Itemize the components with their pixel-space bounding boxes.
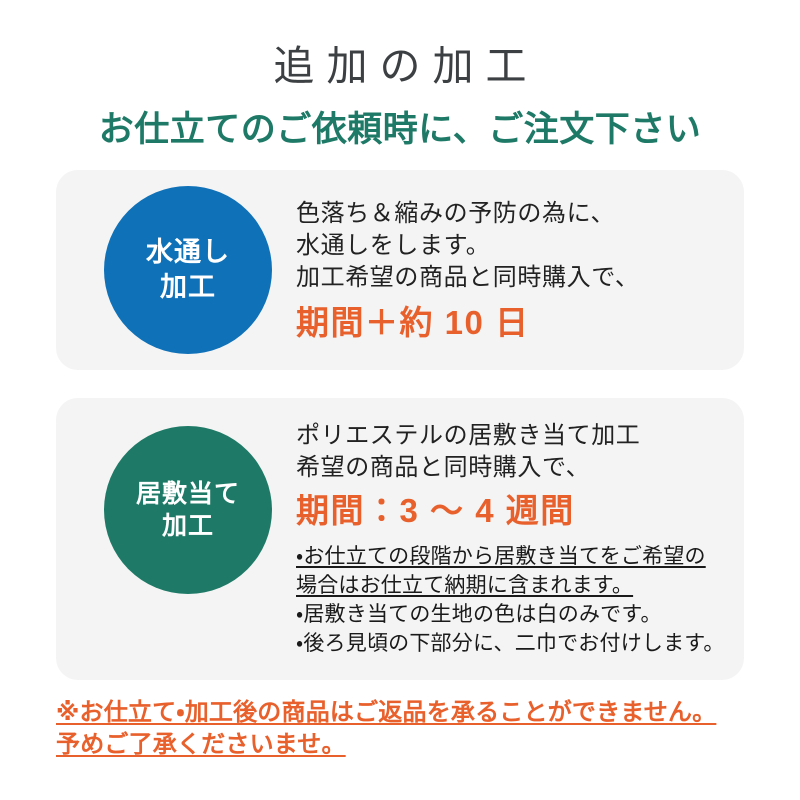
badge-ishikiate-line2: 加工 bbox=[162, 510, 214, 542]
ishikiate-text-line-1: ポリエステルの居敷き当て加工 bbox=[296, 420, 730, 452]
mizutoshi-text-line-2: 水通しをします。 bbox=[296, 230, 730, 262]
ishikiate-duration-highlight: 期間：3 〜 4 週間 bbox=[296, 489, 730, 533]
card-mizutoshi-body: 色落ち＆縮みの予防の為に、 水通しをします。 加工希望の商品と同時購入で、 期間… bbox=[296, 198, 730, 345]
ishikiate-note-1a-text: ・お仕立ての段階から居敷き当てをご希望の bbox=[296, 545, 706, 568]
card-ishikiate-body: ポリエステルの居敷き当て加工 希望の商品と同時購入で、 期間：3 〜 4 週間 … bbox=[296, 420, 730, 658]
badge-ishikiate: 居敷当て 加工 bbox=[104, 426, 272, 594]
card-ishikiate: 居敷当て 加工 ポリエステルの居敷き当て加工 希望の商品と同時購入で、 期間：3… bbox=[56, 398, 744, 680]
ishikiate-note-1b-text: 場合はお仕立て納期に含まれます。 bbox=[296, 574, 633, 597]
card-mizutoshi: 水通し 加工 色落ち＆縮みの予防の為に、 水通しをします。 加工希望の商品と同時… bbox=[56, 170, 744, 370]
badge-mizutoshi-line2: 加工 bbox=[160, 270, 216, 305]
footer-line-1-text: ※お仕立て・加工後の商品はご返品を承ることができません。 bbox=[56, 699, 716, 726]
badge-mizutoshi-line1: 水通し bbox=[146, 235, 230, 270]
infographic-page: 追加の加工 お仕立てのご依頼時に、ご注文下さい 水通し 加工 色落ち＆縮みの予防… bbox=[0, 0, 800, 800]
mizutoshi-text-line-3: 加工希望の商品と同時購入で、 bbox=[296, 262, 730, 294]
footer-line-2: 予めご了承くださいませ。 bbox=[56, 729, 756, 761]
page-subtitle: お仕立てのご依頼時に、ご注文下さい bbox=[0, 87, 800, 147]
ishikiate-text-line-2: 希望の商品と同時購入で、 bbox=[296, 452, 730, 484]
page-title: 追加の加工 bbox=[0, 0, 800, 87]
footer-line-2-text: 予めご了承くださいませ。 bbox=[56, 731, 346, 758]
footer-line-1: ※お仕立て・加工後の商品はご返品を承ることができません。 bbox=[56, 697, 756, 729]
ishikiate-note-2: ・居敷き当ての生地の色は白のみです。 bbox=[296, 600, 730, 629]
ishikiate-note-1b: 場合はお仕立て納期に含まれます。 bbox=[296, 571, 730, 600]
badge-mizutoshi: 水通し 加工 bbox=[104, 186, 272, 354]
ishikiate-note-1a: ・お仕立ての段階から居敷き当てをご希望の bbox=[296, 542, 730, 571]
badge-ishikiate-line1: 居敷当て bbox=[136, 478, 240, 510]
footer-disclaimer: ※お仕立て・加工後の商品はご返品を承ることができません。 予めご了承くださいませ… bbox=[56, 697, 756, 761]
ishikiate-note-3: ・後ろ見頃の下部分に、二巾でお付けします。 bbox=[296, 629, 730, 658]
mizutoshi-text-line-1: 色落ち＆縮みの予防の為に、 bbox=[296, 198, 730, 230]
mizutoshi-duration-highlight: 期間＋約 10 日 bbox=[296, 301, 730, 345]
